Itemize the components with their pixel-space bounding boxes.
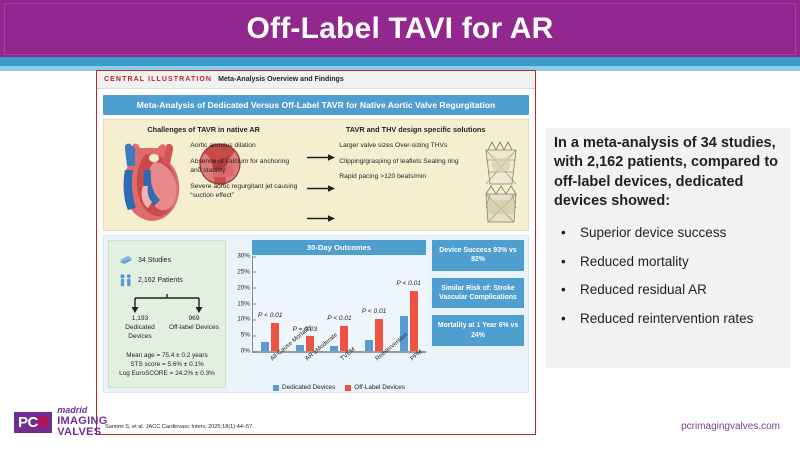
summary-bullet-text: Reduced mortality <box>580 253 689 271</box>
thv-device-illustrations <box>478 140 524 235</box>
solution-arrows <box>307 146 337 229</box>
chart-p-value-annotation: P < 0.01 <box>362 308 387 315</box>
legend-item-dedicated: Dedicated Devices <box>273 384 335 391</box>
patients-count: 2,162 Patients <box>138 277 183 284</box>
legend-label: Off-Label Devices <box>354 384 405 391</box>
chart-bar-group: P < 0.01 <box>357 256 392 351</box>
dedicated-devices-label: Dedicated Devices <box>125 324 155 340</box>
central-illustration-header: CENTRAL ILLUSTRATION Meta-Analysis Overv… <box>97 71 535 89</box>
y-tick-label: 20% <box>237 284 253 291</box>
arrow-right-icon <box>307 146 337 168</box>
summary-bullet-item: •Reduced mortality <box>554 253 780 271</box>
solution-item: Rapid pacing >120 beats/min <box>339 173 459 182</box>
callout-device-success: Device Success 93% vs 82% <box>432 240 524 271</box>
legend-swatch-icon <box>273 385 279 391</box>
central-illustration-subtitle: Meta-Analysis Overview and Findings <box>218 76 344 83</box>
summary-bullet-text: Reduced reintervention rates <box>580 310 753 328</box>
y-tick-label: 25% <box>237 268 253 275</box>
arrow-right-icon <box>307 177 337 199</box>
key-findings-callouts: Device Success 93% vs 82% Similar Risk o… <box>432 240 524 388</box>
balloon-expandable-valve-icon <box>486 186 516 222</box>
solution-item: Larger valve sizes Over-sizing THVs <box>339 142 459 151</box>
books-icon <box>119 255 133 266</box>
sts-score: STS score = 5.6% ± 0.1% <box>113 360 221 369</box>
mean-age: Mean age = 75.4 ± 0.2 years <box>113 351 221 360</box>
chart-bar-group: P < 0.01 <box>253 256 288 351</box>
y-tick-label: 10% <box>237 316 253 323</box>
chart-legend: Dedicated Devices Off-Label Devices <box>252 384 426 391</box>
summary-panel: In a meta-analysis of 34 studies, with 2… <box>546 128 790 368</box>
solutions-list: Larger valve sizes Over-sizing THVs Clip… <box>339 142 459 189</box>
chart-p-value-annotation: P < 0.01 <box>327 315 352 322</box>
legend-item-offlabel: Off-Label Devices <box>345 384 405 391</box>
dedicated-devices-count: 1,193 <box>113 315 167 324</box>
summary-bullet-item: •Reduced residual AR <box>554 281 780 299</box>
challenge-item: Absence of calcium for anchoring and sta… <box>190 158 300 175</box>
page-title: Off-Label TAVI for AR <box>247 12 554 46</box>
chart-bar <box>365 340 373 351</box>
arrow-right-icon <box>307 207 337 229</box>
central-illustration-card: CENTRAL ILLUSTRATION Meta-Analysis Overv… <box>96 70 536 435</box>
bullet-icon: • <box>554 224 580 242</box>
summary-bullet-text: Reduced residual AR <box>580 281 707 299</box>
citation-text: Samimi S, et al. JACC Cardiovasc Interv.… <box>105 424 254 430</box>
summary-bullet-text: Superior device success <box>580 224 726 242</box>
challenges-heading: Challenges of TAVR in native AR <box>104 120 303 134</box>
central-illustration-label: CENTRAL ILLUSTRATION <box>104 76 212 83</box>
studies-row: 34 Studies <box>119 255 221 266</box>
logo-mark-text: PC <box>18 414 38 431</box>
logo-line-valves: VALVES <box>57 427 107 438</box>
chart-title: 30-Day Outcomes <box>252 240 426 255</box>
offlabel-devices-label: Off-label Devices <box>169 324 219 331</box>
summary-bullet-list: •Superior device success•Reduced mortali… <box>554 224 780 328</box>
challenges-list: Aortic annulus dilation Absence of calci… <box>190 142 300 208</box>
chart-bar <box>261 342 269 352</box>
baseline-characteristics: Mean age = 75.4 ± 0.2 years STS score = … <box>113 351 221 379</box>
chart-bar <box>375 319 383 351</box>
chart-bar <box>296 345 304 351</box>
challenge-item: Aortic annulus dilation <box>190 142 300 150</box>
study-population-box: 34 Studies 2,162 Patients <box>108 240 226 388</box>
solutions-section: TAVR and THV design specific solutions L… <box>303 120 528 230</box>
self-expanding-valve-icon <box>486 142 516 184</box>
chart-bar <box>410 291 418 351</box>
y-tick-label: 30% <box>237 253 253 260</box>
bullet-icon: • <box>554 310 580 328</box>
chart-bar <box>271 323 279 352</box>
patients-row: 2,162 Patients <box>119 274 221 287</box>
chart-bar <box>340 326 348 351</box>
people-icon <box>119 274 133 287</box>
results-panel: 34 Studies 2,162 Patients <box>103 235 529 393</box>
y-tick-label: 5% <box>241 332 253 339</box>
solution-item: Clipping/grasping of leaflets Sealing ri… <box>339 158 459 167</box>
website-url[interactable]: pcrimagingvalves.com <box>681 421 780 432</box>
summary-bullet-item: •Reduced reintervention rates <box>554 310 780 328</box>
challenge-item: Severe aortic regurgitant jet causing “s… <box>190 183 300 200</box>
chart-p-value-annotation: P < 0.01 <box>258 312 283 319</box>
chart-p-value-annotation: P < 0.01 <box>396 280 421 287</box>
challenges-solutions-panel: Challenges of TAVR in native AR <box>103 119 529 231</box>
split-bracket <box>113 294 221 314</box>
central-illustration-title: Meta-Analysis of Dedicated Versus Off-La… <box>103 95 529 115</box>
pcr-logo-mark: PCR <box>14 412 52 433</box>
device-split: 1,193 Dedicated Devices 969 Off-label De… <box>113 315 221 342</box>
log-euroscore: Log EuroSCORE = 24.2% ± 0.3% <box>113 369 221 378</box>
solutions-heading: TAVR and THV design specific solutions <box>303 120 528 134</box>
summary-lead-text: In a meta-analysis of 34 studies, with 2… <box>554 134 780 212</box>
callout-similar-risk: Similar Risk of: Stroke Vascular Complic… <box>432 278 524 309</box>
offlabel-devices-group: 969 Off-label Devices <box>167 315 221 342</box>
bullet-icon: • <box>554 281 580 299</box>
y-tick-label: 15% <box>237 300 253 307</box>
teal-accent-band <box>0 57 800 66</box>
pcr-madrid-imaging-valves-logo: PCR madrid IMAGING VALVES <box>14 406 108 438</box>
summary-bullet-item: •Superior device success <box>554 224 780 242</box>
legend-swatch-icon <box>345 385 351 391</box>
callout-mortality-1-year: Mortality at 1 Year 6% vs 24% <box>432 315 524 346</box>
challenges-section: Challenges of TAVR in native AR <box>104 120 303 230</box>
chart-bar <box>330 346 338 351</box>
logo-wordmark: madrid IMAGING VALVES <box>57 406 107 438</box>
central-illustration-body: Meta-Analysis of Dedicated Versus Off-La… <box>97 89 535 393</box>
heart-anatomy-illustration <box>110 140 202 226</box>
studies-count: 34 Studies <box>138 257 171 264</box>
outcomes-chart: 30-Day Outcomes 30% 25% 20% 15% 10% 5% 0… <box>230 240 428 388</box>
legend-label: Dedicated Devices <box>282 384 335 391</box>
offlabel-devices-count: 969 <box>167 315 221 324</box>
logo-mark-accent: R <box>38 414 48 431</box>
slide-title-band: Off-Label TAVI for AR <box>0 0 800 57</box>
bullet-icon: • <box>554 253 580 271</box>
dedicated-devices-group: 1,193 Dedicated Devices <box>113 315 167 342</box>
y-tick-label: 0% <box>241 348 253 355</box>
